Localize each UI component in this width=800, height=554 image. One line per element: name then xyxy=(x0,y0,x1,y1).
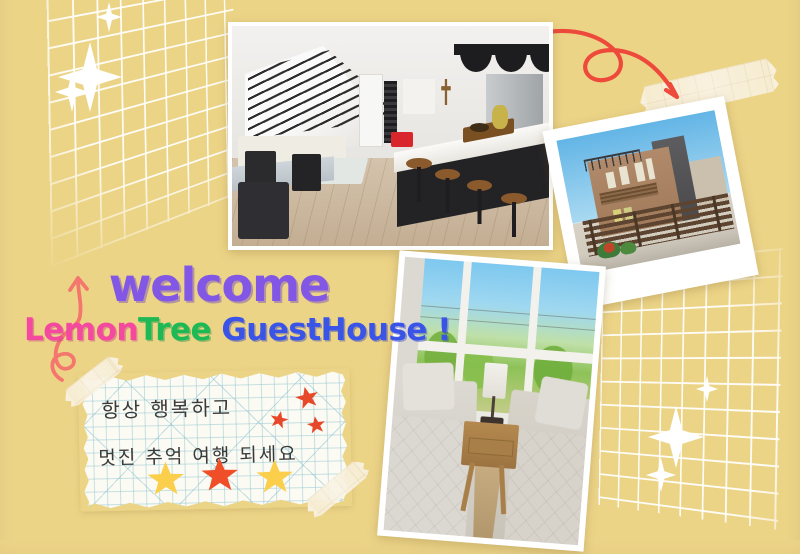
headline-brand: LemonTree GuestHouse ! xyxy=(24,315,420,346)
headline-word-guesthouse: GuestHouse xyxy=(221,312,427,348)
headline-word-tree: Tree xyxy=(138,312,211,348)
poster-canvas: welcome LemonTree GuestHouse ! 항상 행복하고 멋… xyxy=(0,0,800,554)
note-text-block: 항상 행복하고 멋진 추억 여행 되세요 xyxy=(79,369,352,511)
background-edge-bottom xyxy=(0,540,800,554)
photo-house-image xyxy=(556,110,740,274)
korean-message-note[interactable]: 항상 행복하고 멋진 추억 여행 되세요 xyxy=(79,369,352,511)
photo-interior-image xyxy=(232,26,549,246)
headline-block: welcome LemonTree GuestHouse ! xyxy=(0,262,420,346)
note-line-2: 멋진 추억 여행 되세요 xyxy=(98,438,351,470)
photo-interior-kitchen-living[interactable] xyxy=(228,22,553,250)
background-edge-right xyxy=(786,0,800,554)
headline-welcome: welcome xyxy=(18,262,420,308)
headline-exclamation: ! xyxy=(437,312,451,348)
headline-word-lemon: Lemon xyxy=(24,312,138,348)
